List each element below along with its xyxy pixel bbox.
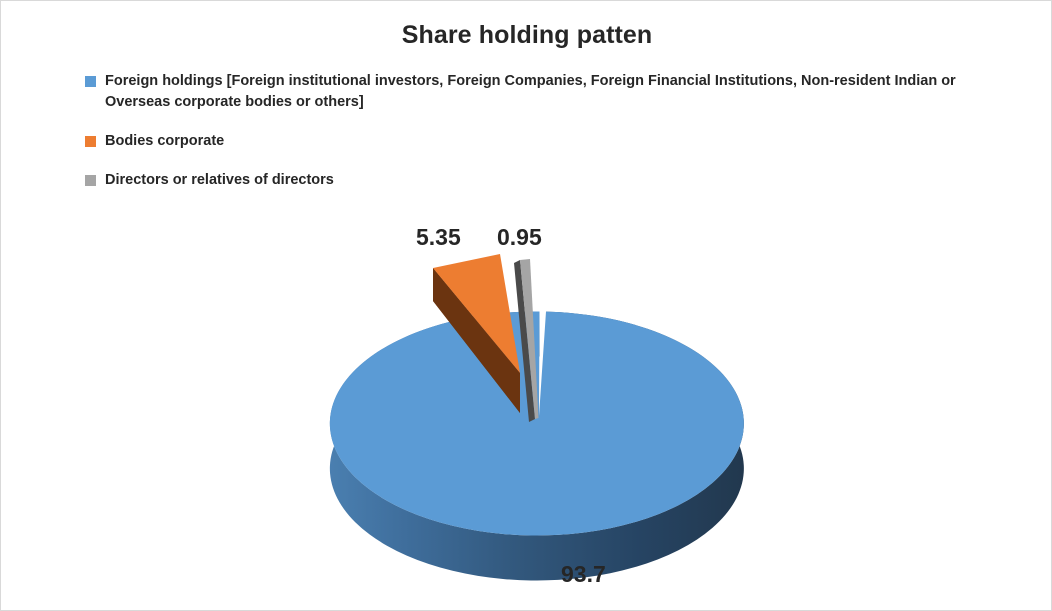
pie-chart-plot-area	[1, 1, 1052, 611]
chart-container: Share holding patten Foreign holdings [F…	[0, 0, 1052, 611]
data-label-directors: 0.95	[497, 223, 542, 251]
data-label-foreign-holdings: 93.7	[561, 560, 606, 588]
data-label-bodies-corporate: 5.35	[416, 223, 461, 251]
pie-slice-foreign-holdings[interactable]	[330, 311, 744, 535]
pie-chart-svg	[1, 1, 1052, 611]
